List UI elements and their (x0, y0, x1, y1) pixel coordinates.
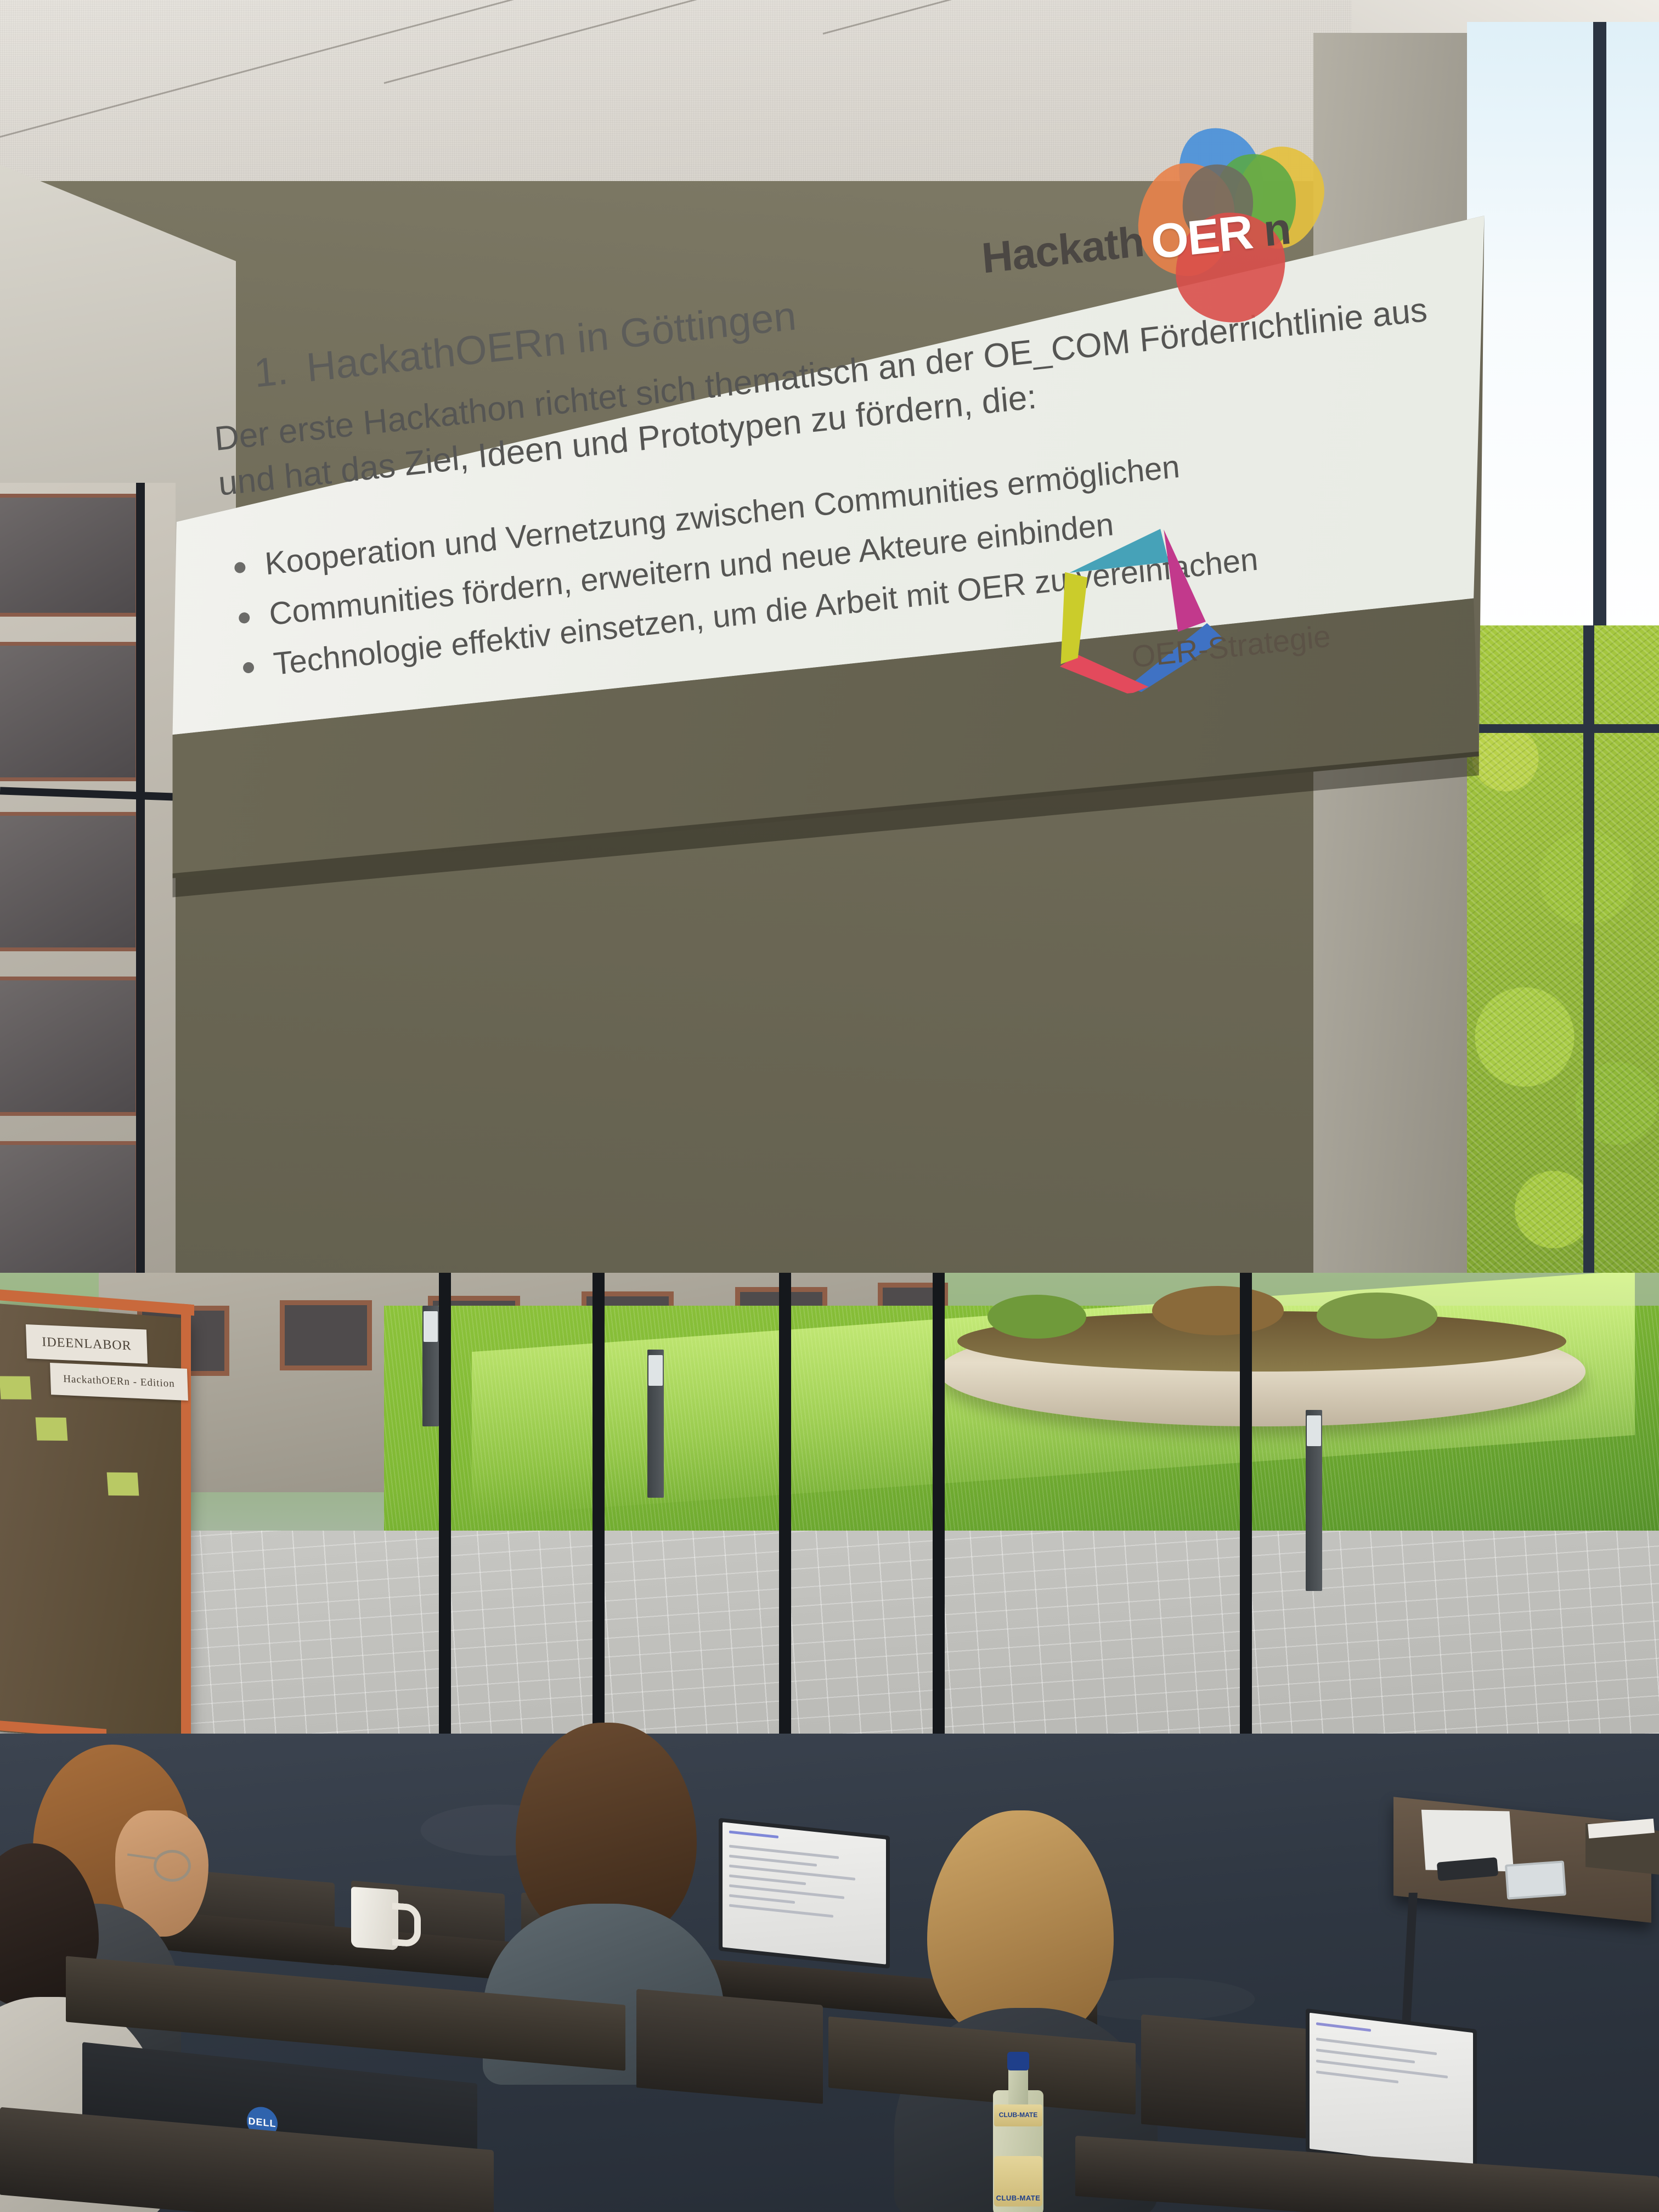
sticky-note (107, 1472, 139, 1496)
bottle-label-text: CLUB-MATE (994, 2194, 1042, 2202)
window-mullion (933, 1273, 945, 1756)
sky-through-window (1467, 22, 1659, 642)
pinboard-sign: IDEENLABOR (26, 1324, 148, 1364)
slide-content: 1.HackathOERn in Göttingen Der erste Hac… (198, 157, 1488, 707)
logo-word-highlight: OER (1149, 204, 1254, 270)
coffee-mug (351, 1887, 398, 1950)
bottle-label: CLUB-MATE (994, 2156, 1042, 2207)
mug-handle (392, 1903, 421, 1948)
screenshot-root: 1.HackathOERn in Göttingen Der erste Hac… (0, 0, 1659, 2212)
window-mullion (592, 1273, 605, 1756)
window-mullion (779, 1273, 791, 1756)
eyeglasses (154, 1850, 191, 1882)
logo-word-prefix: Hackath (980, 216, 1146, 283)
bollard-lamp (422, 1306, 439, 1426)
window-mullion-right (1593, 22, 1606, 669)
glass-wall-courtyard (0, 1273, 1659, 1756)
laptop-lid (1306, 2008, 1477, 2173)
window-mullion-vertical-right (1583, 625, 1594, 1289)
planter-shrub (988, 1295, 1086, 1339)
oer-strategie-logo: OER-Strategie (1032, 494, 1304, 702)
pinboard-sign: HackathOERn - Edition (50, 1363, 188, 1401)
laptop-brand-label: DELL (249, 2115, 276, 2129)
planter-shrub (1317, 1293, 1437, 1339)
window-mullion (439, 1273, 451, 1756)
seat-back (636, 1989, 823, 2104)
paving-stones (0, 1531, 1659, 1756)
planter-shrub (1152, 1286, 1284, 1335)
building-facade-left (0, 483, 176, 1306)
control-panel-display[interactable] (1505, 1860, 1566, 1899)
slide-number: 1. (252, 347, 290, 396)
laptop-screen[interactable] (723, 1822, 886, 1964)
projection-screen: 1.HackathOERn in Göttingen Der erste Hac… (165, 208, 1492, 1404)
window-mullion (1240, 1273, 1252, 1756)
sticky-note (0, 1376, 31, 1400)
laptop-lid (719, 1818, 890, 1969)
bottle-neck-label-text: CLUB-MATE (994, 2111, 1042, 2119)
logo-word-suffix: n (1261, 203, 1293, 257)
bottle-neck-label: CLUB-MATE (994, 2104, 1042, 2126)
club-mate-bottle: CLUB-MATE CLUB-MATE (993, 2052, 1043, 2212)
bollard-lamp (647, 1350, 664, 1498)
bottle-cap (1007, 2052, 1029, 2070)
bollard-lamp (1306, 1410, 1322, 1591)
window-mullion-horizontal-right (1467, 724, 1659, 733)
ideenlabor-pinboard: IDEENLABOR HackathOERn - Edition (0, 1304, 189, 1746)
laptop-screen[interactable] (1310, 2013, 1473, 2169)
sticky-note (36, 1418, 68, 1441)
